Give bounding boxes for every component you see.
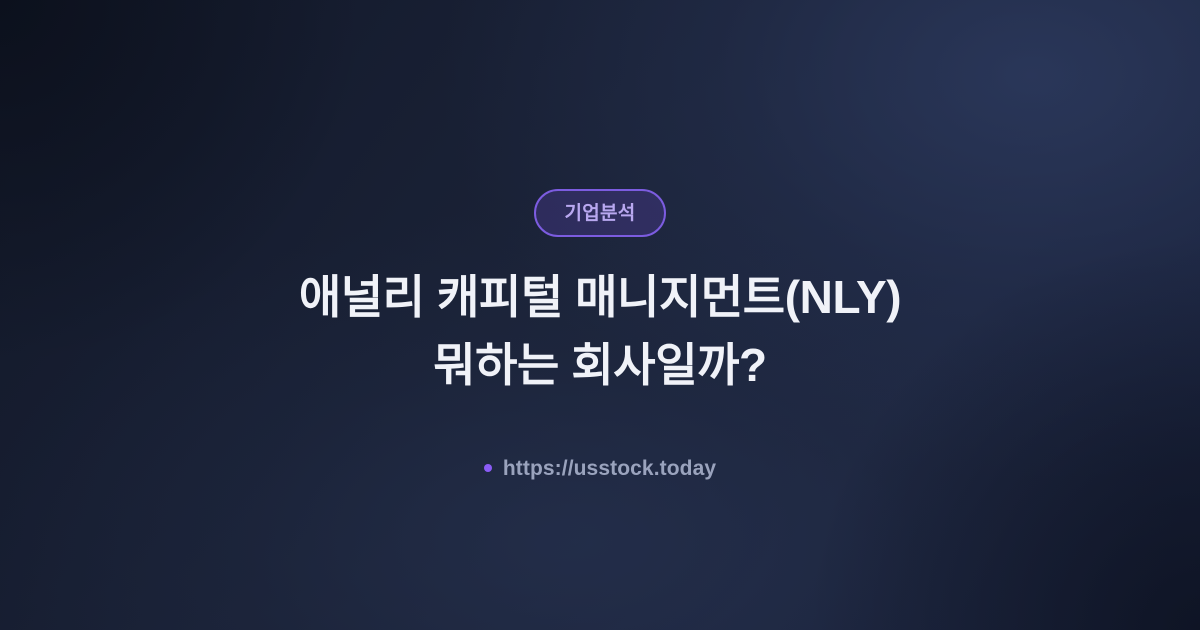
page-title-line-1: 애널리 캐피털 매니지먼트(NLY) <box>299 263 901 331</box>
site-url-label: https://usstock.today <box>503 458 716 479</box>
dot-icon <box>484 464 492 472</box>
og-card: 기업분석 애널리 캐피털 매니지먼트(NLY) 뭐하는 회사일까? https:… <box>0 0 1200 630</box>
site-url-row[interactable]: https://usstock.today <box>484 458 716 479</box>
page-title-line-2: 뭐하는 회사일까? <box>299 331 901 399</box>
category-badge-label: 기업분석 <box>564 204 635 223</box>
page-title: 애널리 캐피털 매니지먼트(NLY) 뭐하는 회사일까? <box>299 263 901 399</box>
category-badge[interactable]: 기업분석 <box>534 189 665 237</box>
card-content: 기업분석 애널리 캐피털 매니지먼트(NLY) 뭐하는 회사일까? https:… <box>0 0 1200 630</box>
